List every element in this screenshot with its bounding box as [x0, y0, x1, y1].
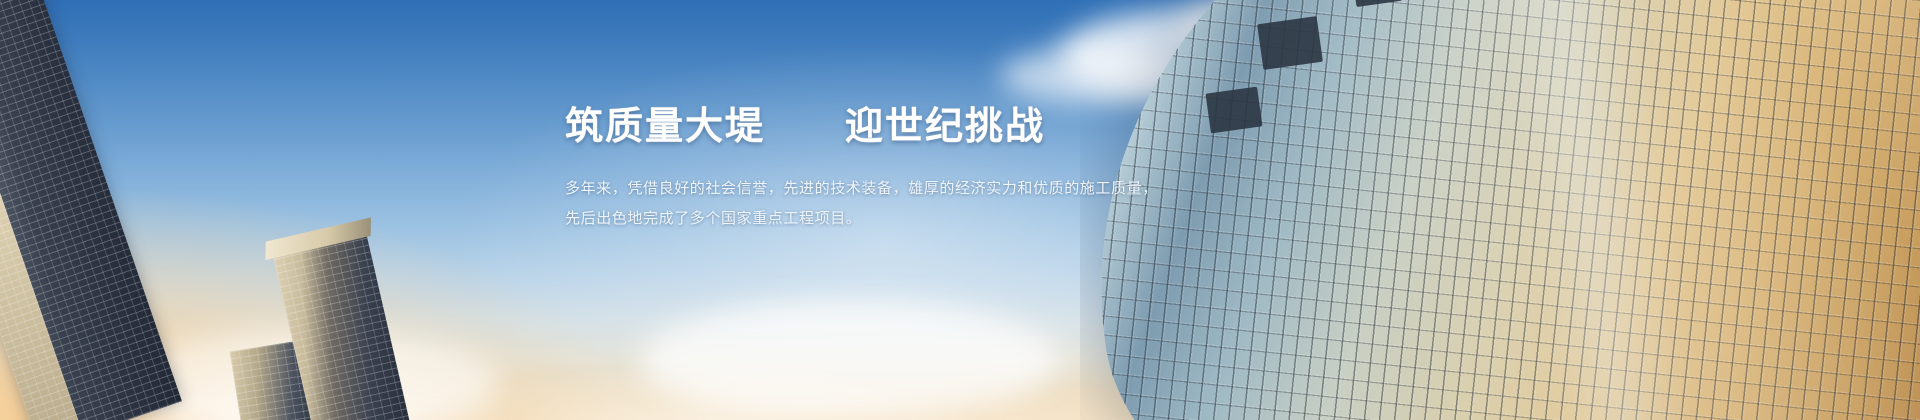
dark-window-panel — [1257, 16, 1323, 70]
glass-reflection-sheen — [1080, 0, 1920, 420]
glass-curtain-wall — [1080, 0, 1920, 420]
banner-headline: 筑质量大堤 迎世纪挑战 — [565, 104, 1205, 152]
banner-subtitle-line-2: 先后出色地完成了多个国家重点工程项目。 — [565, 204, 1205, 234]
right-curved-glass-skyscraper — [1080, 0, 1920, 420]
banner-copy: 筑质量大堤 迎世纪挑战 多年来，凭借良好的社会信誉，先进的技术装备，雄厚的经济实… — [565, 104, 1205, 234]
window-grid — [0, 0, 182, 420]
hero-banner: 筑质量大堤 迎世纪挑战 多年来，凭借良好的社会信誉，先进的技术装备，雄厚的经济实… — [0, 0, 1920, 420]
cloud-shape — [640, 300, 1060, 420]
dark-window-panel — [1205, 87, 1262, 134]
banner-subtitle-line-1: 多年来，凭借良好的社会信誉，先进的技术装备，雄厚的经济实力和优质的施工质量， — [565, 174, 1205, 204]
banner-subtitle: 多年来，凭借良好的社会信誉，先进的技术装备，雄厚的经济实力和优质的施工质量， 先… — [565, 174, 1205, 234]
left-main-skyscraper — [0, 0, 182, 420]
